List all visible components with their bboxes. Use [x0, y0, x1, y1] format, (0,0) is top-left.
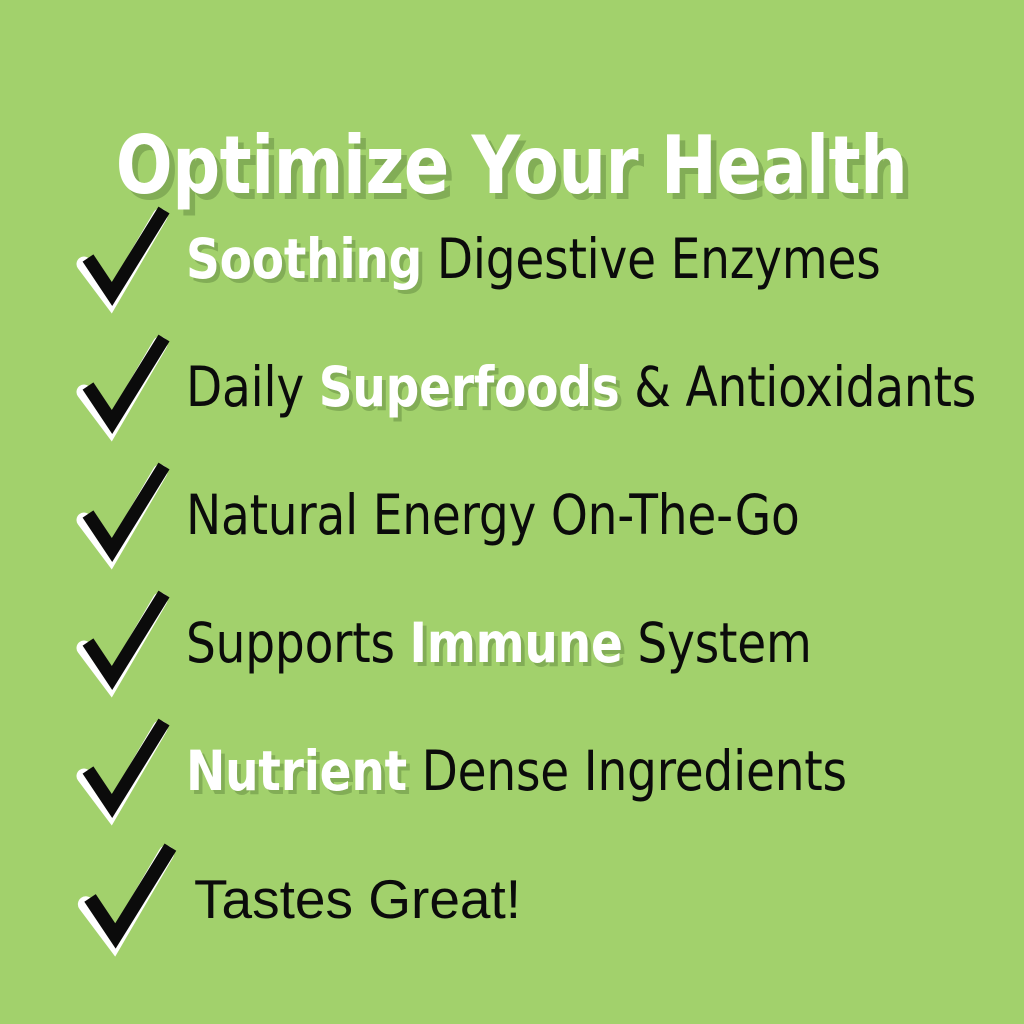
benefit-list: Soothing Digestive Enzymes Daily Superfo…	[0, 196, 1024, 964]
benefit-trail: Dense Ingredients	[407, 739, 847, 803]
list-item: Nutrient Dense Ingredients	[0, 708, 1024, 836]
page-title: Optimize Your Health	[116, 126, 908, 206]
benefit-emphasis: Soothing	[186, 227, 422, 291]
benefit-lead: Tastes Great!	[194, 868, 521, 930]
benefit-trail: System	[623, 611, 812, 675]
benefit-emphasis: Superfoods	[319, 355, 620, 419]
benefit-trail: Digestive Enzymes	[422, 227, 880, 291]
list-item: Soothing Digestive Enzymes	[0, 196, 1024, 324]
benefit-lead: Natural Energy On-The-Go	[186, 483, 800, 547]
list-item-label: Nutrient Dense Ingredients	[186, 743, 982, 801]
benefit-emphasis: Nutrient	[186, 739, 407, 803]
checkmark-icon	[74, 336, 170, 440]
list-item: Daily Superfoods & Antioxidants	[0, 324, 1024, 452]
list-item-label: Supports Immune System	[186, 615, 982, 673]
list-item-label: Tastes Great!	[194, 871, 1024, 929]
list-item: Supports Immune System	[0, 580, 1024, 708]
benefit-emphasis: Immune	[410, 611, 623, 675]
checkmark-icon	[74, 592, 170, 696]
benefit-lead: Daily	[186, 355, 319, 419]
list-item: Natural Energy On-The-Go	[0, 452, 1024, 580]
checkmark-icon	[74, 845, 178, 955]
benefit-lead: Supports	[186, 611, 410, 675]
list-item-label: Soothing Digestive Enzymes	[186, 231, 982, 289]
checkmark-icon	[74, 464, 170, 568]
benefit-trail: & Antioxidants	[620, 355, 976, 419]
list-item: Tastes Great!	[0, 836, 1024, 964]
list-item-label: Daily Superfoods & Antioxidants	[186, 359, 982, 417]
checkmark-icon	[74, 720, 170, 824]
promo-poster: Optimize Your Health Soothing Digestive …	[0, 0, 1024, 1024]
checkmark-icon	[74, 208, 170, 312]
list-item-label: Natural Energy On-The-Go	[186, 487, 982, 545]
